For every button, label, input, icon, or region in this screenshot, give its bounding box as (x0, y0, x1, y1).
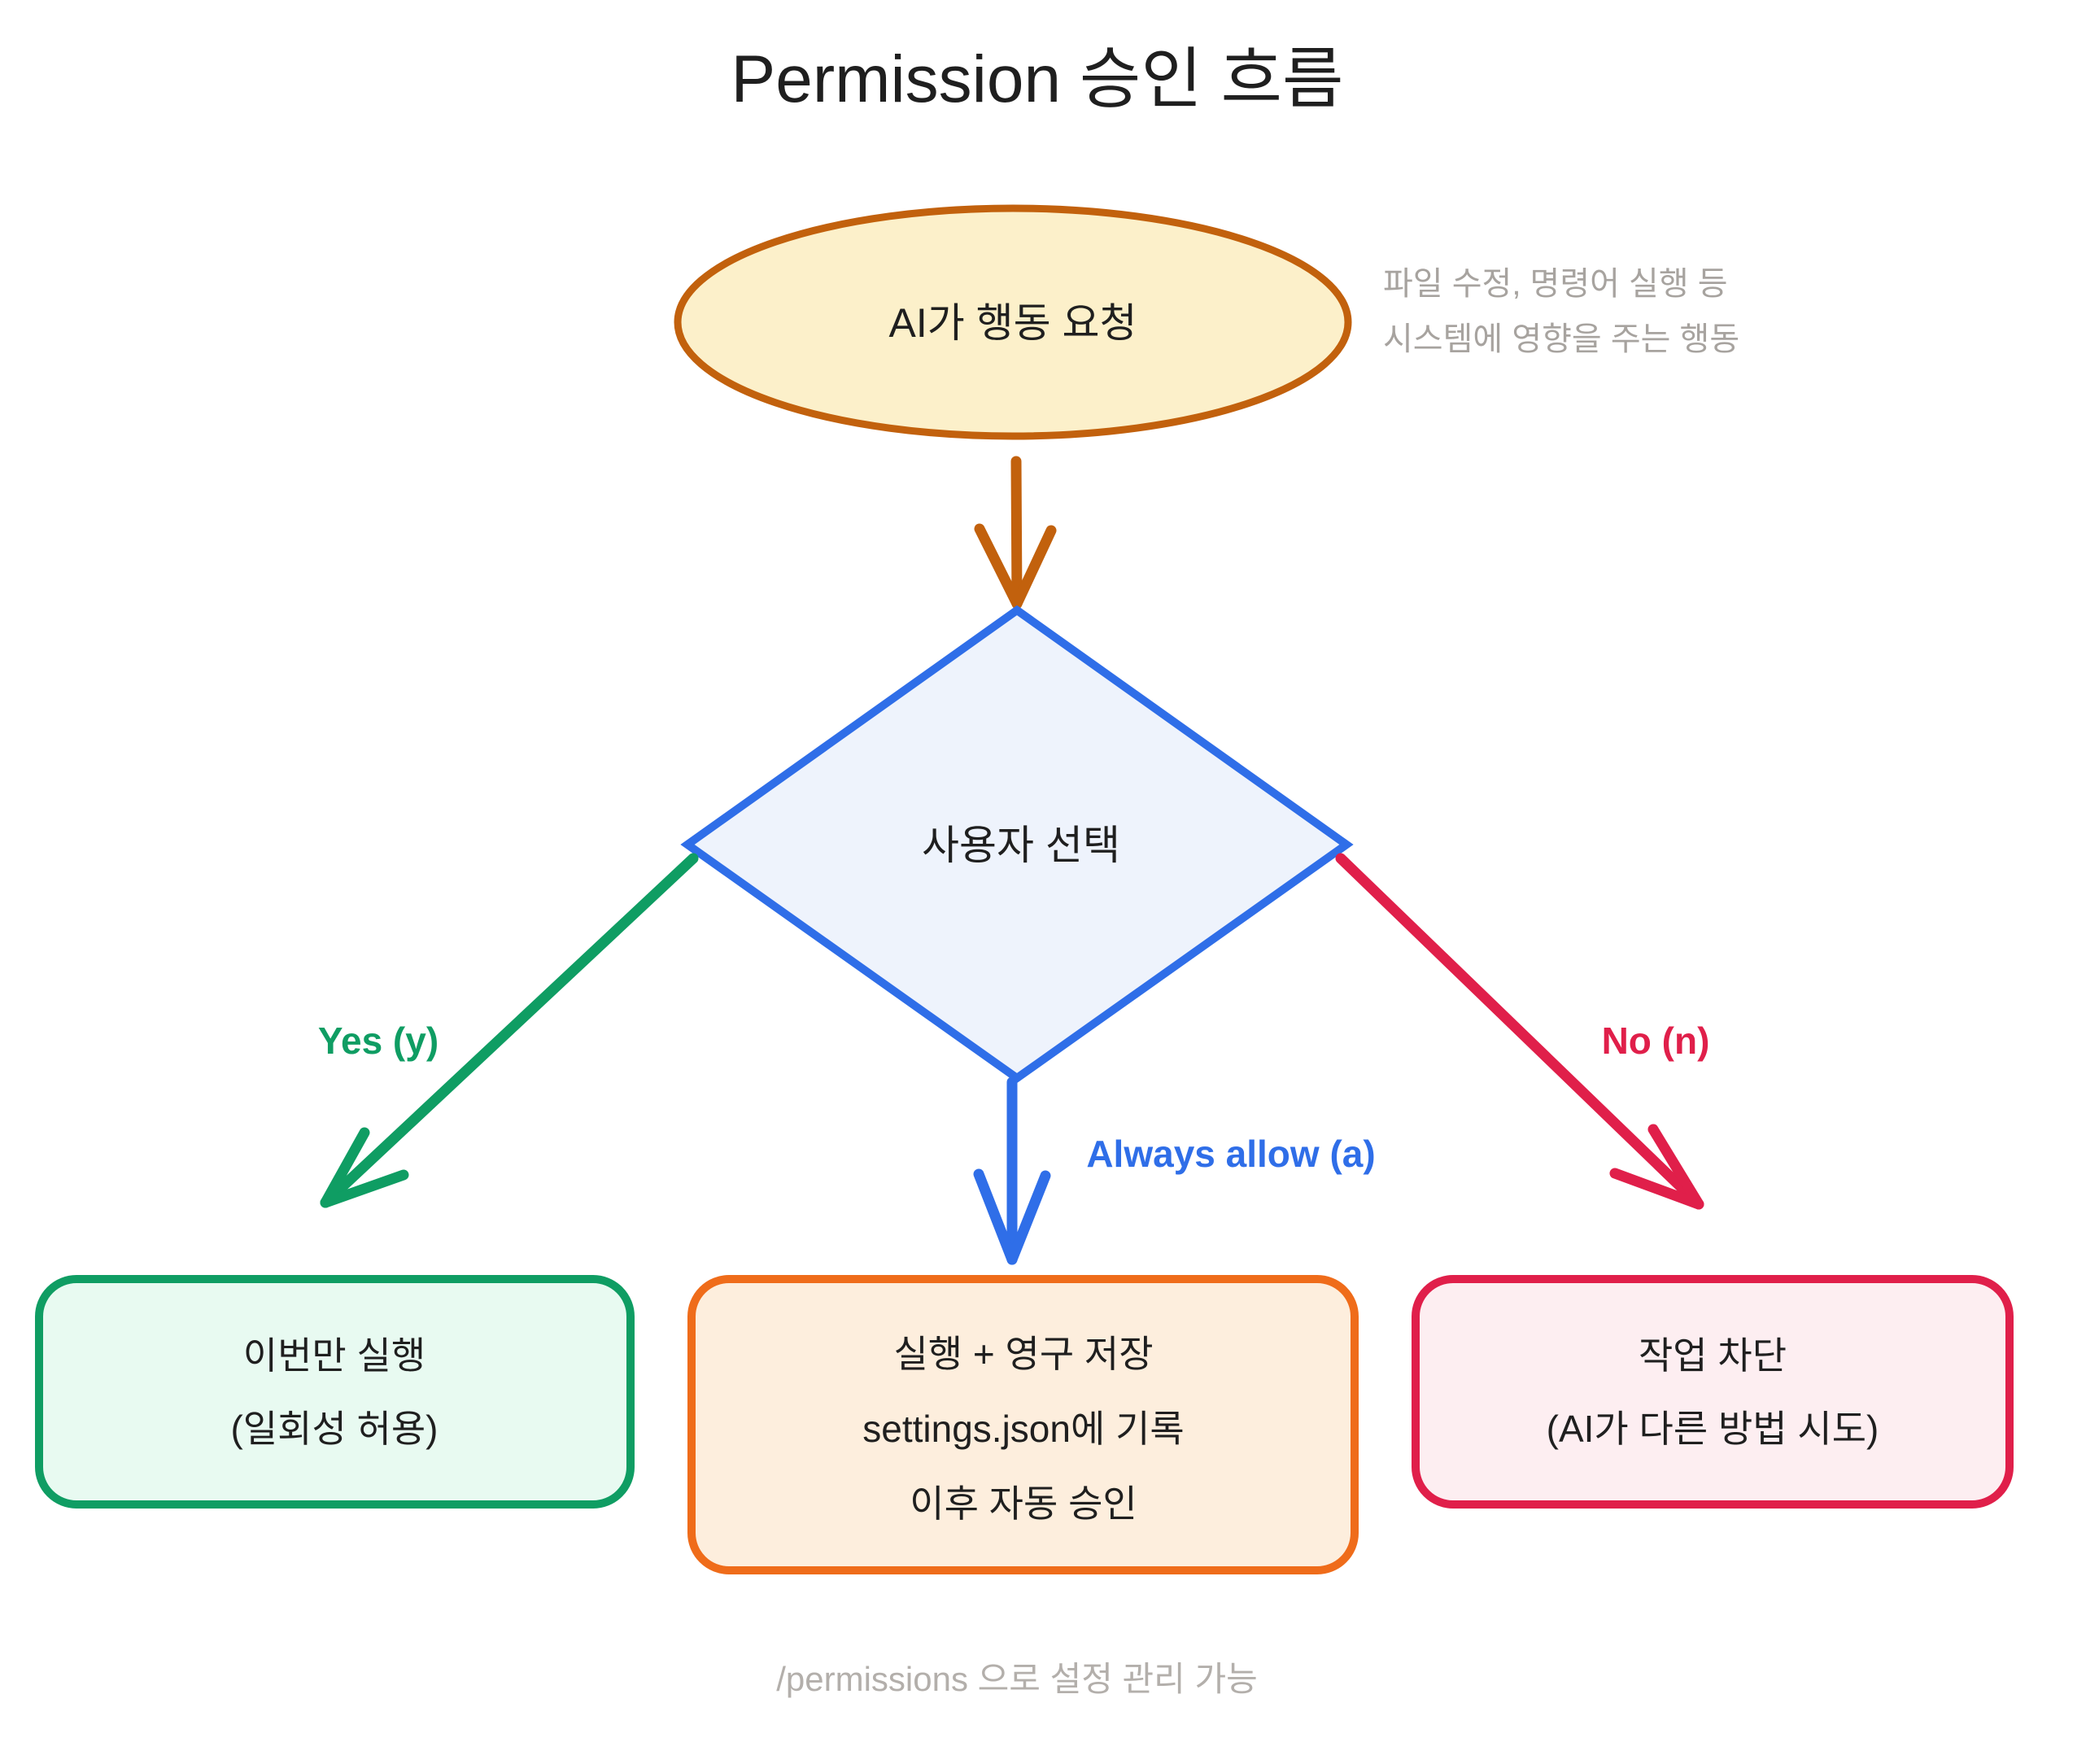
run-once-line-2: (일회성 허용) (230, 1408, 438, 1450)
edge-no: No (n) (1341, 858, 1709, 1204)
run-once-box (39, 1279, 631, 1504)
permission-flow-diagram: Permission 승인 흐름 AI가 행동 요청 파일 수정, 명령어 실행… (0, 0, 2099, 1764)
footer-note: /permissions 으로 설정 관리 가능 (776, 1660, 1258, 1698)
edge-start-to-decision (980, 461, 1051, 604)
flowchart-canvas: Permission 승인 흐름 AI가 행동 요청 파일 수정, 명령어 실행… (0, 0, 2099, 1764)
edge-yes: Yes (y) (318, 858, 693, 1203)
blocked-line-2: (AI가 다른 방법 시도) (1547, 1408, 1879, 1450)
edge-yes-label: Yes (y) (318, 1020, 439, 1062)
node-ai-request[interactable]: AI가 행동 요청 (678, 208, 1348, 436)
blocked-line-1: 작업 차단 (1639, 1334, 1787, 1377)
node-run-and-save[interactable]: 실행 + 영구 저장 settings.json에 기록 이후 자동 승인 (692, 1279, 1355, 1570)
run-and-save-line-2: settings.json에 기록 (862, 1408, 1184, 1450)
run-once-line-1: 이번만 실행 (243, 1334, 425, 1377)
run-and-save-line-3: 이후 자동 승인 (910, 1482, 1137, 1525)
edge-always-label: Always allow (a) (1086, 1133, 1375, 1175)
node-blocked[interactable]: 작업 차단 (AI가 다른 방법 시도) (1416, 1279, 2010, 1504)
node-user-choice[interactable]: 사용자 선택 (687, 610, 1346, 1078)
node-run-once[interactable]: 이번만 실행 (일회성 허용) (39, 1279, 631, 1504)
start-note-line-1: 파일 수정, 명령어 실행 등 (1383, 266, 1728, 302)
edge-always: Always allow (a) (979, 1082, 1376, 1260)
diagram-title: Permission 승인 흐름 (731, 42, 1344, 116)
node-ai-request-label: AI가 행동 요청 (888, 300, 1137, 346)
node-user-choice-label: 사용자 선택 (922, 823, 1120, 868)
run-and-save-line-1: 실행 + 영구 저장 (893, 1333, 1153, 1375)
blocked-box (1416, 1279, 2010, 1504)
start-note: 파일 수정, 명령어 실행 등 시스템에 영향을 주는 행동 (1383, 266, 1739, 357)
start-note-line-2: 시스템에 영향을 주는 행동 (1383, 321, 1739, 357)
edge-no-label: No (n) (1602, 1020, 1710, 1062)
